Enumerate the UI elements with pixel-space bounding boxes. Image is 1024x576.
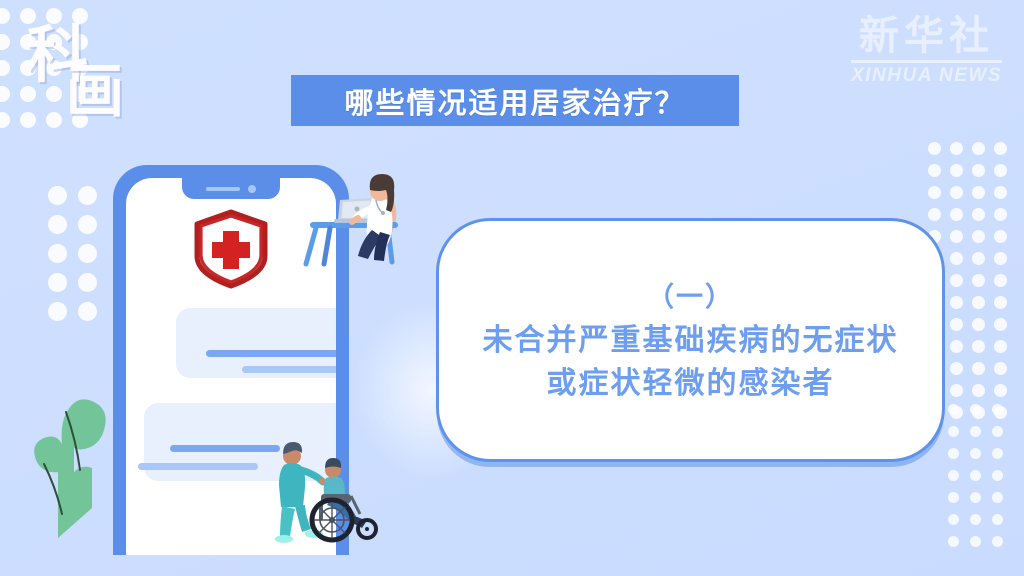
phone-card-line	[138, 463, 258, 470]
decor-dot	[928, 164, 941, 177]
decor-dot	[994, 208, 1007, 221]
decor-dot	[972, 362, 985, 375]
decor-dot	[78, 244, 97, 263]
phone-speaker-icon	[206, 187, 240, 191]
decor-dot	[0, 8, 10, 24]
decor-dot	[950, 186, 963, 199]
decor-dot	[48, 244, 67, 263]
nurse-wheelchair-illustration	[268, 440, 386, 550]
info-card: （一） 未合并严重基础疾病的无症状 或症状轻微的感染者	[436, 218, 945, 462]
decor-dot	[994, 296, 1007, 309]
info-card-line-1: 未合并严重基础疾病的无症状	[483, 320, 899, 363]
watermark-chinese: 新华社	[851, 16, 1002, 56]
decor-dot	[948, 514, 959, 525]
logo-char-hua: 画	[66, 62, 124, 120]
decor-dot	[928, 142, 941, 155]
decor-dot	[970, 492, 981, 503]
decor-dot	[48, 273, 67, 292]
decor-dot	[78, 215, 97, 234]
decor-dot	[972, 252, 985, 265]
decor-dot	[970, 514, 981, 525]
decor-dot	[948, 492, 959, 503]
decor-dot	[950, 362, 963, 375]
decor-dot	[994, 384, 1007, 397]
phone-camera-icon	[248, 185, 256, 193]
decor-dot	[948, 426, 959, 437]
decor-dot	[994, 164, 1007, 177]
decor-dot	[992, 536, 1003, 547]
decor-dot	[994, 340, 1007, 353]
decor-dot	[948, 470, 959, 481]
decor-dot	[972, 340, 985, 353]
decor-dot	[972, 230, 985, 243]
decor-dot	[950, 142, 963, 155]
watermark-english: XINHUA NEWS	[851, 66, 1002, 85]
info-card-number: （一）	[647, 275, 734, 314]
decor-dot	[48, 215, 67, 234]
decor-dot	[970, 404, 981, 415]
decor-dot	[78, 186, 97, 205]
decor-dot	[0, 86, 10, 102]
decor-dot	[950, 230, 963, 243]
decor-dot	[950, 318, 963, 331]
decor-dot	[948, 536, 959, 547]
decor-dot	[994, 142, 1007, 155]
dot-grid-left	[48, 186, 108, 331]
decor-dot	[950, 208, 963, 221]
decor-dot	[972, 164, 985, 177]
title-banner: 哪些情况适用居家治疗？	[291, 75, 739, 126]
decor-dot	[994, 318, 1007, 331]
decor-dot	[972, 142, 985, 155]
decor-dot	[0, 34, 10, 50]
decor-dot	[970, 470, 981, 481]
decor-dot	[928, 186, 941, 199]
decor-dot	[948, 448, 959, 459]
decor-dot	[994, 274, 1007, 287]
infographic-canvas: 科 画 新华社 XINHUA NEWS 哪些情况适用居家治疗？	[0, 0, 1024, 576]
decor-dot	[948, 404, 959, 415]
decor-dot	[994, 186, 1007, 199]
phone-card-line	[242, 366, 336, 373]
ke-hua-logo: 科 画	[26, 18, 156, 128]
watermark-divider	[851, 60, 1002, 63]
decor-dot	[994, 230, 1007, 243]
decor-dot	[928, 208, 941, 221]
decor-dot	[972, 296, 985, 309]
decor-dot	[994, 252, 1007, 265]
decor-dot	[972, 384, 985, 397]
decor-dot	[992, 404, 1003, 415]
decor-dot	[972, 274, 985, 287]
decor-dot	[972, 318, 985, 331]
medical-cross-shield-icon	[193, 208, 269, 290]
decor-dot	[0, 60, 10, 76]
decor-dot	[992, 492, 1003, 503]
decor-dot	[994, 362, 1007, 375]
decor-dot	[950, 274, 963, 287]
decor-dot	[972, 186, 985, 199]
decor-dot	[992, 514, 1003, 525]
decor-dot	[992, 448, 1003, 459]
xinhua-news-watermark: 新华社 XINHUA NEWS	[851, 16, 1002, 85]
cactus-plant-illustration	[6, 352, 114, 542]
decor-dot	[970, 448, 981, 459]
decor-dot	[48, 186, 67, 205]
phone-card-line	[170, 445, 280, 452]
decor-dot	[78, 273, 97, 292]
decor-dot	[950, 252, 963, 265]
decor-dot	[950, 384, 963, 397]
decor-dot	[972, 208, 985, 221]
page-title: 哪些情况适用居家治疗？	[344, 80, 685, 122]
decor-dot	[992, 426, 1003, 437]
doctor-at-desk-illustration	[300, 168, 412, 280]
decor-dot	[970, 426, 981, 437]
decor-dot	[48, 302, 67, 321]
info-card-line-2: 或症状轻微的感染者	[547, 363, 835, 406]
phone-card-line	[206, 350, 336, 357]
decor-dot	[78, 302, 97, 321]
decor-dot	[950, 296, 963, 309]
decor-dot	[950, 340, 963, 353]
phone-notch	[182, 178, 280, 199]
decor-dot	[950, 164, 963, 177]
decor-dot	[970, 536, 981, 547]
decor-dot	[992, 470, 1003, 481]
decor-dot	[0, 112, 10, 128]
dot-grid-right-lower	[948, 404, 1014, 558]
phone-content-card-1	[176, 308, 336, 378]
